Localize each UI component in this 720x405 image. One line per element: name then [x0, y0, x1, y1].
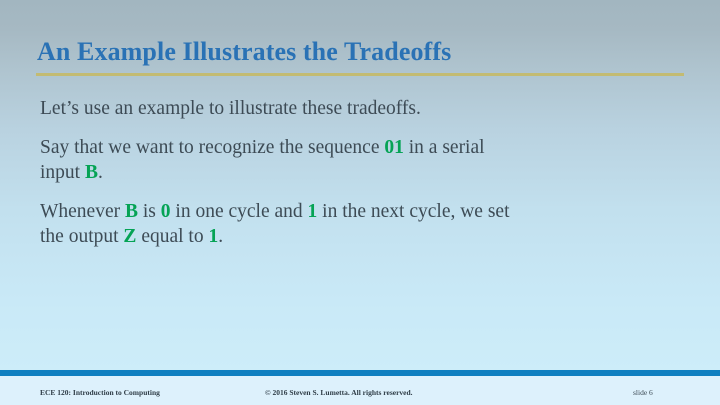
paragraph-3-highlight-one: 1	[308, 201, 318, 222]
page-title: An Example Illustrates the Tradeoffs	[37, 36, 687, 68]
footer-course-label: ECE 120: Introduction to Computing	[40, 388, 160, 397]
paragraph-2-highlight-sequence: 01	[384, 137, 404, 158]
body-paragraph-2: Say that we want to recognize the sequen…	[40, 135, 510, 185]
paragraph-3-text-3: in one cycle and	[171, 201, 308, 222]
paragraph-2-highlight-input-b: B	[85, 162, 98, 183]
paragraph-3-highlight-zero: 0	[161, 201, 171, 222]
paragraph-3-highlight-one-2: 1	[208, 226, 218, 247]
title-divider-rule	[36, 73, 684, 76]
footer-slide-number: slide 6	[633, 388, 653, 397]
paragraph-3-text-5: equal to	[136, 226, 208, 247]
paragraph-3-text-6: .	[218, 226, 223, 247]
slide-body: Let’s use an example to illustrate these…	[40, 96, 510, 249]
paragraph-3-highlight-z: Z	[123, 226, 136, 247]
body-paragraph-3: Whenever B is 0 in one cycle and 1 in th…	[40, 199, 510, 249]
paragraph-2-text-1: Say that we want to recognize the sequen…	[40, 137, 384, 158]
slide-canvas: An Example Illustrates the Tradeoffs Let…	[0, 0, 720, 405]
paragraph-3-text-2: is	[138, 201, 161, 222]
paragraph-3-text-1: Whenever	[40, 201, 125, 222]
footer-copyright-label: © 2016 Steven S. Lumetta. All rights res…	[265, 388, 413, 397]
paragraph-2-text-3: .	[98, 162, 103, 183]
paragraph-1-text: Let’s use an example to illustrate these…	[40, 98, 421, 119]
paragraph-3-highlight-b: B	[125, 201, 138, 222]
body-paragraph-1: Let’s use an example to illustrate these…	[40, 96, 510, 121]
